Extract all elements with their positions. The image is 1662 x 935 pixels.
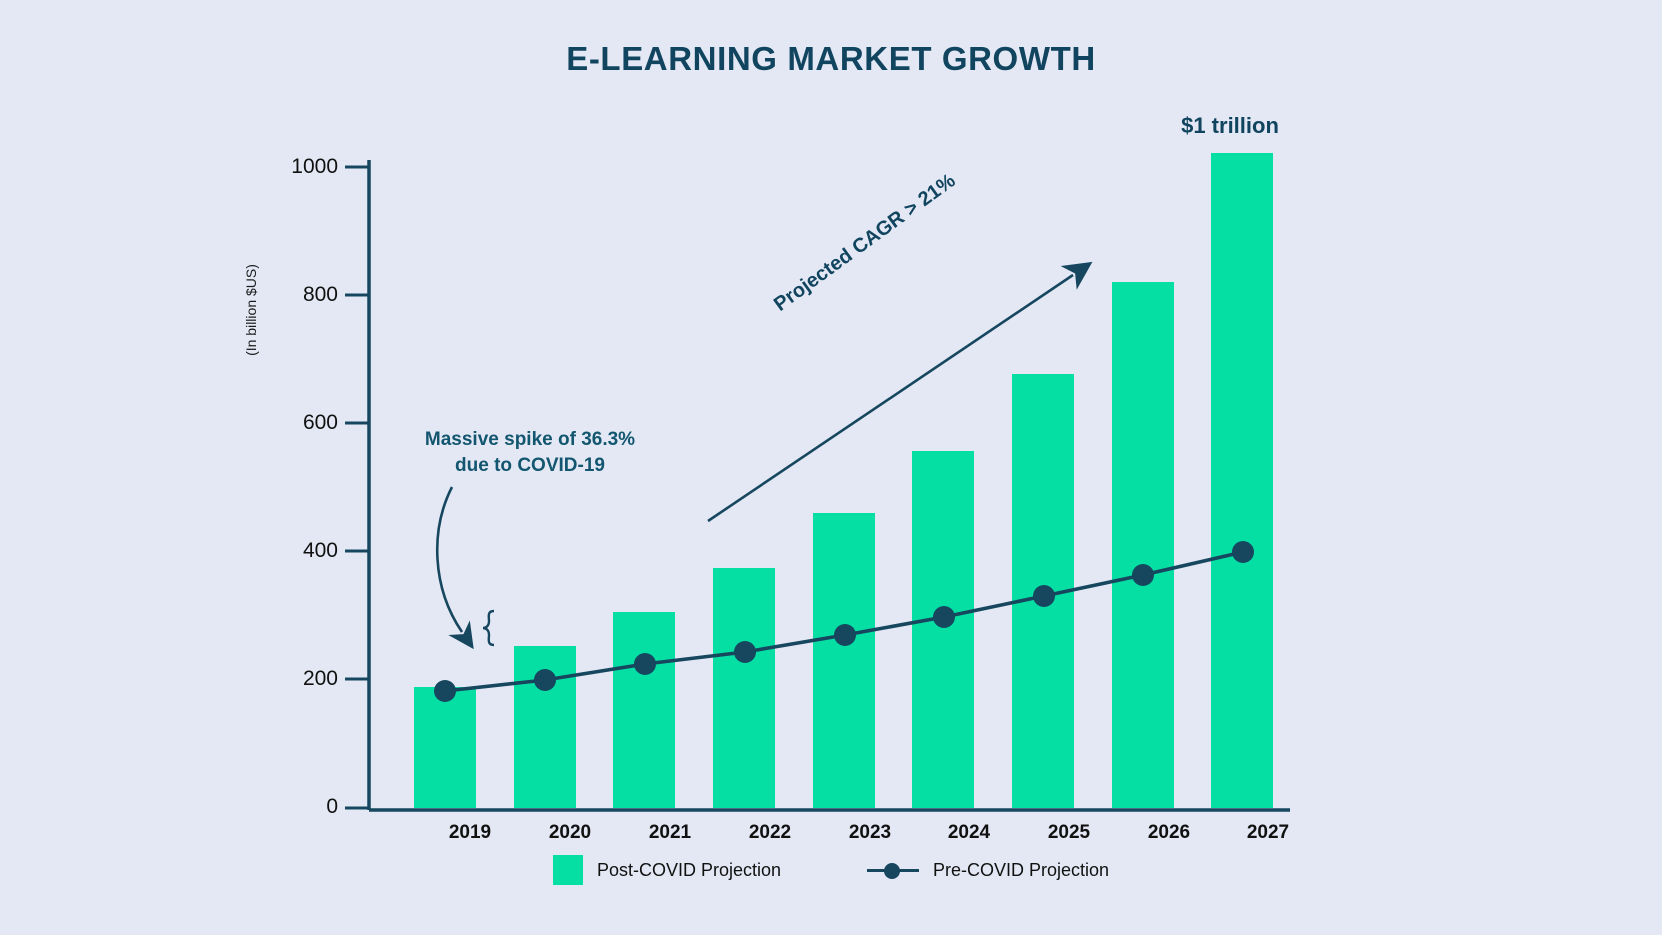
chart-legend: Post-COVID Projection Pre-COVID Projecti… xyxy=(0,855,1662,885)
annotation-spike-line2: due to COVID-19 xyxy=(455,455,605,476)
line-point-2026[interactable] xyxy=(1132,564,1154,586)
bar-2027[interactable] xyxy=(1211,153,1273,808)
legend-line-dot-icon xyxy=(867,861,919,879)
bar-2021[interactable] xyxy=(613,612,675,808)
line-point-2025[interactable] xyxy=(1033,585,1055,607)
line-point-2020[interactable] xyxy=(534,669,556,691)
bar-2023[interactable] xyxy=(813,513,875,808)
legend-swatch-icon xyxy=(553,855,583,885)
bar-2019[interactable] xyxy=(414,687,476,808)
line-point-2023[interactable] xyxy=(834,624,856,646)
line-point-2024[interactable] xyxy=(933,606,955,628)
bar-2024[interactable] xyxy=(912,451,974,808)
legend-label-pre-covid: Pre-COVID Projection xyxy=(933,860,1109,881)
annotation-spike-line1: Massive spike of 36.3% xyxy=(425,429,635,450)
annotation-trillion: $1 trillion xyxy=(1140,113,1320,139)
line-point-2021[interactable] xyxy=(634,653,656,675)
spike-callout-arrow-icon xyxy=(437,487,494,645)
line-point-2019[interactable] xyxy=(434,680,456,702)
bar-2022[interactable] xyxy=(713,568,775,808)
line-point-2022[interactable] xyxy=(734,641,756,663)
legend-item-pre-covid[interactable]: Pre-COVID Projection xyxy=(867,860,1109,881)
bar-2026[interactable] xyxy=(1112,282,1174,808)
plot-area xyxy=(0,0,1662,935)
legend-item-post-covid[interactable]: Post-COVID Projection xyxy=(553,855,781,885)
chart-container: E-LEARNING MARKET GROWTH (In billion $US… xyxy=(0,0,1662,935)
line-point-2027[interactable] xyxy=(1232,541,1254,563)
legend-label-post-covid: Post-COVID Projection xyxy=(597,860,781,881)
annotation-spike: Massive spike of 36.3% due to COVID-19 xyxy=(400,427,660,478)
